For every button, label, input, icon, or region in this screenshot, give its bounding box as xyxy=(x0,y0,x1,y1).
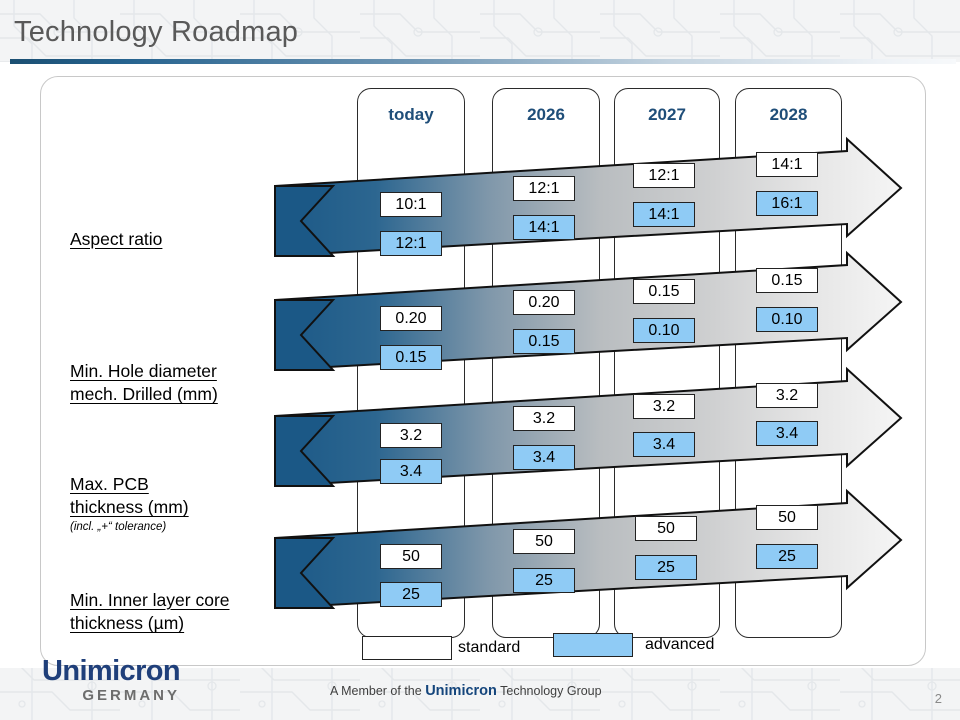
footer-note-prefix: A Member of the xyxy=(330,684,425,698)
value-chip-advanced: 3.4 xyxy=(633,432,695,457)
value-chip-advanced: 16:1 xyxy=(756,191,818,216)
footer-membership-note: A Member of the Unimicron Technology Gro… xyxy=(330,683,602,699)
value-chip-standard: 0.15 xyxy=(633,279,695,304)
value-chip-standard: 3.2 xyxy=(756,383,818,408)
value-chip-advanced: 3.4 xyxy=(756,421,818,446)
value-chip-advanced: 14:1 xyxy=(633,202,695,227)
row-label-aspect-ratio: Aspect ratio xyxy=(70,228,300,251)
value-chip-advanced: 12:1 xyxy=(380,231,442,256)
value-chip-advanced: 25 xyxy=(513,568,575,593)
value-chip-standard: 0.20 xyxy=(513,290,575,315)
legend-swatch-standard xyxy=(362,636,452,660)
footer-note-brand: Unimicron xyxy=(425,683,497,699)
value-chip-advanced: 0.15 xyxy=(513,329,575,354)
title-divider xyxy=(10,59,956,64)
value-chip-advanced: 25 xyxy=(380,582,442,607)
legend-label-standard: standard xyxy=(458,639,520,657)
row-label-pcb-thickness: Max. PCB thickness (mm) (incl. „+“ toler… xyxy=(70,450,300,559)
year-column-label: 2027 xyxy=(615,105,719,125)
value-chip-standard: 3.2 xyxy=(513,406,575,431)
row-label-text: Max. PCB thickness (mm) xyxy=(70,474,189,517)
value-chip-advanced: 3.4 xyxy=(380,459,442,484)
value-chip-standard: 0.20 xyxy=(380,306,442,331)
value-chip-advanced: 0.10 xyxy=(756,307,818,332)
value-chip-standard: 50 xyxy=(380,544,442,569)
value-chip-standard: 0.15 xyxy=(756,268,818,293)
value-chip-standard: 50 xyxy=(756,505,818,530)
year-column-label: today xyxy=(358,105,464,125)
row-label-subnote: (incl. „+“ tolerance) xyxy=(70,520,300,535)
footer-note-suffix: Technology Group xyxy=(497,684,602,698)
row-label-core-thickness: Min. Inner layer core thickness (µm) xyxy=(70,566,310,635)
value-chip-standard: 12:1 xyxy=(513,176,575,201)
row-label-hole-diameter: Min. Hole diameter mech. Drilled (mm) xyxy=(70,337,300,406)
year-column-2026: 2026 xyxy=(492,88,600,638)
value-chip-advanced: 25 xyxy=(756,544,818,569)
value-chip-advanced: 3.4 xyxy=(513,445,575,470)
row-label-text: Min. Hole diameter mech. Drilled (mm) xyxy=(70,361,218,404)
unimicron-logo: Unimicron GERMANY xyxy=(42,658,180,704)
legend-swatch-advanced xyxy=(553,633,633,657)
row-label-text: Aspect ratio xyxy=(70,229,162,249)
value-chip-advanced: 25 xyxy=(635,555,697,580)
page-title: Technology Roadmap xyxy=(14,16,298,49)
value-chip-advanced: 0.15 xyxy=(380,345,442,370)
value-chip-standard: 50 xyxy=(513,529,575,554)
value-chip-standard: 14:1 xyxy=(756,152,818,177)
value-chip-standard: 12:1 xyxy=(633,163,695,188)
value-chip-standard: 3.2 xyxy=(380,423,442,448)
logo-region: GERMANY xyxy=(42,687,180,704)
value-chip-standard: 50 xyxy=(635,516,697,541)
page-number: 2 xyxy=(935,691,942,706)
year-column-label: 2028 xyxy=(736,105,841,125)
row-label-text: Min. Inner layer core thickness (µm) xyxy=(70,590,230,633)
year-column-label: 2026 xyxy=(493,105,599,125)
legend-label-advanced: advanced xyxy=(645,636,714,654)
value-chip-standard: 3.2 xyxy=(633,394,695,419)
logo-wordmark: Unimicron xyxy=(42,658,180,686)
value-chip-advanced: 14:1 xyxy=(513,215,575,240)
value-chip-standard: 10:1 xyxy=(380,192,442,217)
value-chip-advanced: 0.10 xyxy=(633,318,695,343)
